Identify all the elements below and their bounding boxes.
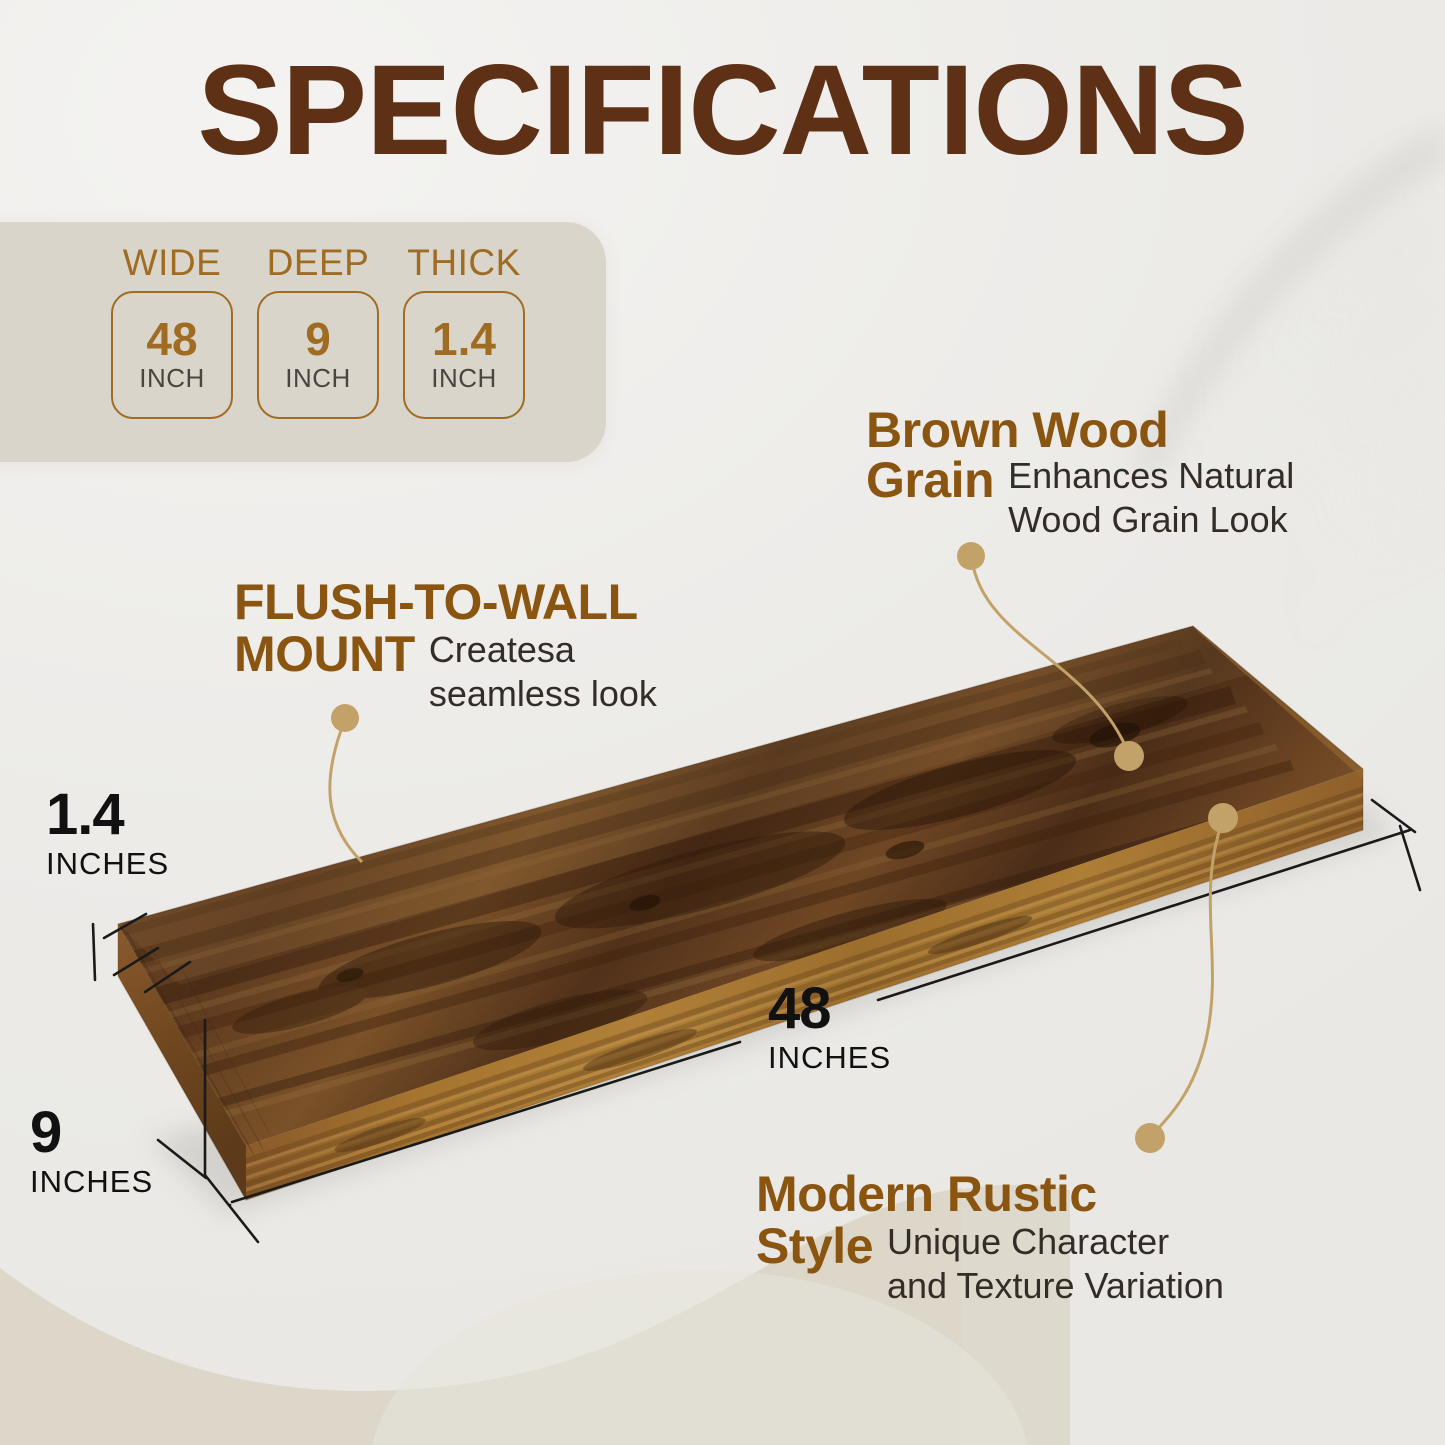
dot-rustic-text	[1135, 1123, 1165, 1153]
callout-modern-rustic: Modern Rustic Style Unique Character and…	[756, 1168, 1316, 1308]
callout-brown-wood-desc-line1: Enhances Natural	[1008, 454, 1294, 498]
dimension-unit-width: INCHES	[768, 1038, 891, 1078]
callout-brown-wood-desc-line2: Wood Grain Look	[1008, 498, 1294, 542]
dimension-label-thickness: 1.4 INCHES	[46, 786, 169, 884]
dim-tick-width-right	[1400, 826, 1420, 890]
callout-brown-wood-heading-line2: Grain	[866, 454, 994, 506]
dim-line-thickness	[93, 924, 95, 980]
spec-item-thick: THICK 1.4 INCH	[402, 242, 526, 419]
callout-flush-description: Createsa seamless look	[429, 628, 657, 716]
spec-card-thick: 1.4 INCH	[403, 291, 525, 419]
spec-value-wide: 48	[146, 316, 197, 362]
callout-flush-heading-line2: MOUNT	[234, 628, 415, 680]
spec-label-deep: DEEP	[267, 242, 370, 284]
spec-card-deep: 9 INCH	[257, 291, 379, 419]
dimension-value-depth: 9	[30, 1104, 153, 1162]
callout-brown-wood-description: Enhances Natural Wood Grain Look	[1008, 454, 1294, 542]
dimension-label-depth: 9 INCHES	[30, 1104, 153, 1202]
specifications-row: WIDE 48 INCH DEEP 9 INCH THICK 1.4 INCH	[110, 242, 526, 419]
callout-brown-wood: Brown Wood Grain Enhances Natural Wood G…	[866, 404, 1386, 542]
page-title: SPECIFICATIONS	[0, 44, 1445, 178]
spec-card-wide: 48 INCH	[111, 291, 233, 419]
dimension-value-width: 48	[768, 980, 891, 1038]
callout-flush-heading-line1: FLUSH-TO-WALL	[234, 576, 774, 628]
spec-unit-wide: INCH	[139, 363, 205, 394]
spec-unit-deep: INCH	[285, 363, 351, 394]
dimension-unit-thickness: INCHES	[46, 844, 169, 884]
dimension-unit-depth: INCHES	[30, 1162, 153, 1202]
spec-value-deep: 9	[305, 316, 331, 362]
spec-label-wide: WIDE	[123, 242, 222, 284]
callout-flush-desc-line1: Createsa	[429, 628, 657, 672]
callout-rustic-desc-line1: Unique Character	[887, 1220, 1224, 1264]
callout-flush-mount: FLUSH-TO-WALL MOUNT Createsa seamless lo…	[234, 576, 774, 716]
dot-brown-wood-product	[1114, 741, 1144, 771]
callout-brown-wood-heading-line1: Brown Wood	[866, 404, 1386, 456]
callout-rustic-desc-line2: and Texture Variation	[887, 1264, 1224, 1308]
specifications-panel: WIDE 48 INCH DEEP 9 INCH THICK 1.4 INCH	[0, 222, 606, 462]
spec-item-wide: WIDE 48 INCH	[110, 242, 234, 419]
dot-rustic-product	[1208, 803, 1238, 833]
spec-unit-thick: INCH	[431, 363, 497, 394]
infographic-canvas: SPECIFICATIONS WIDE 48 INCH DEEP 9 INCH …	[0, 0, 1445, 1445]
connector-flush	[330, 722, 362, 862]
spec-label-thick: THICK	[407, 242, 521, 284]
dot-brown-wood-text	[957, 542, 985, 570]
dimension-label-width: 48 INCHES	[768, 980, 891, 1078]
spec-item-deep: DEEP 9 INCH	[256, 242, 380, 419]
dimension-value-thickness: 1.4	[46, 786, 169, 844]
callout-rustic-heading-line2: Style	[756, 1220, 873, 1272]
callout-rustic-heading-line1: Modern Rustic	[756, 1168, 1316, 1220]
callout-rustic-description: Unique Character and Texture Variation	[887, 1220, 1224, 1308]
callout-flush-desc-line2: seamless look	[429, 672, 657, 716]
spec-value-thick: 1.4	[432, 316, 496, 362]
